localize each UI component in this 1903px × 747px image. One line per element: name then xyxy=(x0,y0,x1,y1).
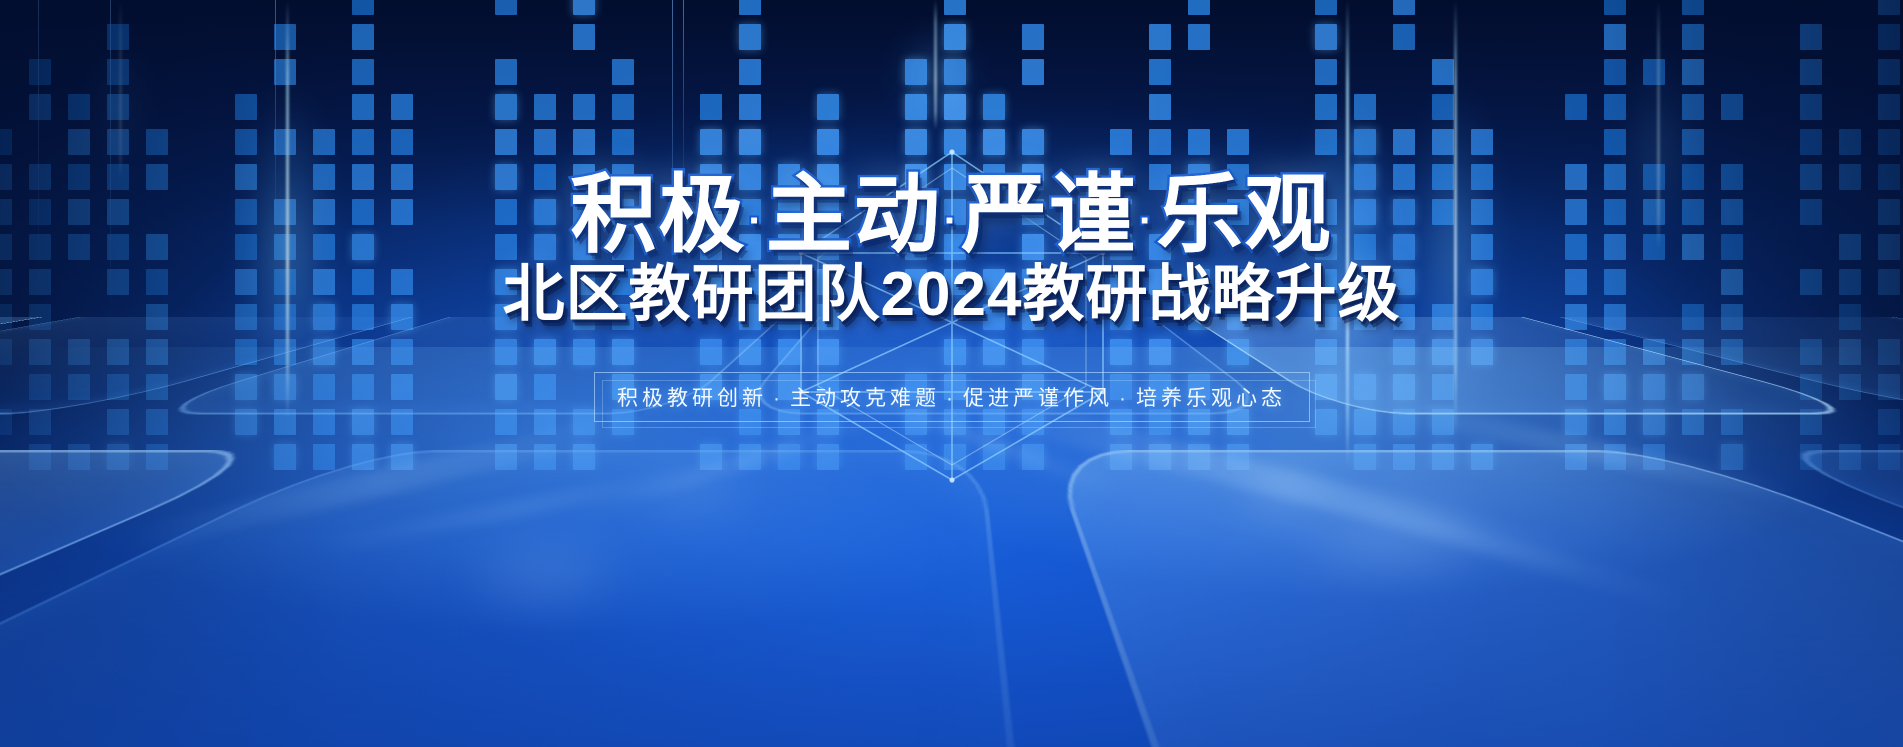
main-title-sep-3: · xyxy=(1139,199,1154,243)
tagline-sep-3: · xyxy=(1119,387,1130,410)
tagline-item-3: 促进严谨作风 xyxy=(963,387,1113,410)
main-title-word-4: 乐观 xyxy=(1156,167,1332,263)
tagline-item-2: 主动攻克难题 xyxy=(790,387,940,410)
floor-glow-blob xyxy=(640,470,750,516)
floor-tile xyxy=(1422,317,1903,414)
promo-banner: 积极·主动·严谨·乐观 北区教研团队2024教研战略升级 积极教研创新·主动攻克… xyxy=(0,0,1903,747)
floor-glow-blob xyxy=(1300,500,1480,580)
tagline-sep-2: · xyxy=(946,387,957,410)
tagline-item-1: 积极教研创新 xyxy=(617,387,767,410)
main-title-sep-2: · xyxy=(944,199,959,243)
floor-glow-blob xyxy=(1240,470,1330,520)
main-title: 积极·主动·严谨·乐观 xyxy=(0,172,1903,258)
main-title-word-2: 主动 xyxy=(766,167,942,263)
tagline-frame: 积极教研创新·主动攻克难题·促进严谨作风·培养乐观心态 xyxy=(594,372,1310,422)
main-title-sep-1: · xyxy=(749,199,764,243)
floor-glow-blob xyxy=(470,540,620,610)
sub-title: 北区教研团队2024教研战略升级 xyxy=(0,264,1903,326)
tagline-item-4: 培养乐观心态 xyxy=(1136,387,1286,410)
tagline-text: 积极教研创新·主动攻克难题·促进严谨作风·培养乐观心态 xyxy=(617,382,1286,412)
tagline-sep-1: · xyxy=(773,387,784,410)
main-title-word-1: 积极 xyxy=(571,167,747,263)
main-title-word-3: 严谨 xyxy=(961,167,1137,263)
